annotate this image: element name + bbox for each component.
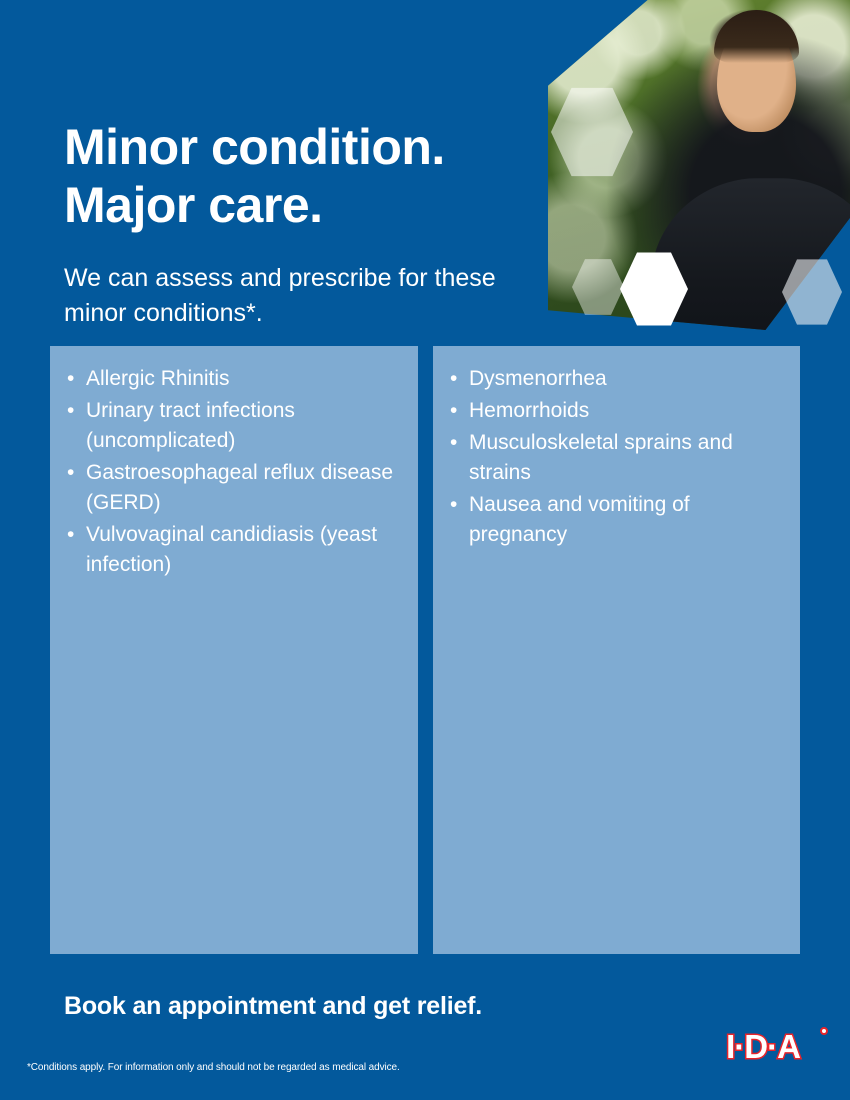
page-title: Minor condition. Major care. [64,118,564,235]
conditions-list-right: Dysmenorrhea Hemorrhoids Musculoskeletal… [447,364,786,550]
poster-root: Minor condition. Major care. We can asse… [0,0,850,1100]
conditions-list-left: Allergic Rhinitis Urinary tract infectio… [64,364,404,580]
ida-logo: I·D·A [707,1026,819,1066]
list-item: Hemorrhoids [447,396,786,426]
hero-subject-hair [714,10,799,63]
list-item: Vulvovaginal candidiasis (yeast infectio… [64,520,404,580]
list-item: Urinary tract infections (uncomplicated) [64,396,404,456]
list-item: Nausea and vomiting of pregnancy [447,490,786,550]
list-item: Dysmenorrhea [447,364,786,394]
headline-line-2: Major care. [64,176,564,235]
list-item: Gastroesophageal reflux disease (GERD) [64,458,404,518]
subheading: We can assess and prescribe for these mi… [64,261,564,330]
subheading-line-1: We can assess and prescribe for these [64,261,564,296]
ida-logo-dot-icon [820,1027,828,1035]
disclaimer-text: *Conditions apply. For information only … [27,1062,400,1073]
list-item: Allergic Rhinitis [64,364,404,394]
cta-text: Book an appointment and get relief. [64,992,482,1021]
conditions-card-right: Dysmenorrhea Hemorrhoids Musculoskeletal… [433,346,800,954]
list-item: Musculoskeletal sprains and strains [447,428,786,488]
headline-line-1: Minor condition. [64,118,564,177]
ida-logo-text: I·D·A [726,1030,800,1063]
subheading-line-2: minor conditions*. [64,296,564,331]
conditions-card-left: Allergic Rhinitis Urinary tract infectio… [50,346,418,954]
